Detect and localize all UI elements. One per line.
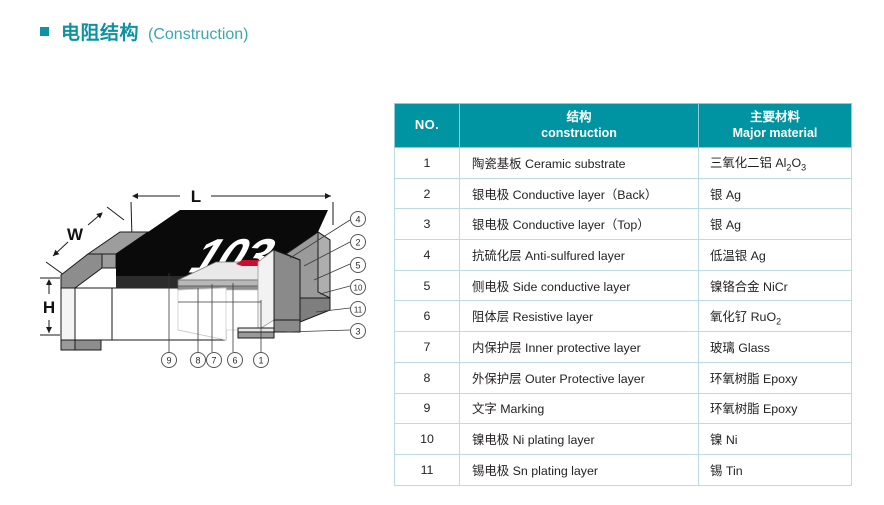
column-header-material-en: Major material (699, 126, 851, 142)
table-header-row: NO. 结构 construction 主要材料 Major material (395, 104, 852, 148)
table-row: 2银电极 Conductive layer（Back）银 Ag (395, 178, 852, 209)
cell-no: 11 (395, 454, 460, 485)
material-subscript: 3 (801, 163, 806, 173)
column-header-no-label: NO. (415, 117, 439, 132)
cell-no: 10 (395, 424, 460, 455)
column-header-material-cn: 主要材料 (699, 110, 851, 126)
cell-material: 银 Ag (699, 209, 852, 240)
svg-text:5: 5 (355, 261, 360, 271)
column-header-material: 主要材料 Major material (699, 104, 852, 148)
cell-material: 玻璃 Glass (699, 332, 852, 363)
svg-text:2: 2 (355, 238, 360, 248)
table-row: 6阻体层 Resistive layer氧化钌 RuO2 (395, 301, 852, 332)
callout-9: 9 (162, 353, 177, 368)
callout-11: 11 (351, 302, 366, 317)
cell-material: 三氧化二铝 Al2O3 (699, 148, 852, 179)
chip-body: 103 (61, 210, 330, 350)
cell-material: 银 Ag (699, 178, 852, 209)
cell-material: 环氧树脂 Epoxy (699, 393, 852, 424)
cell-no: 2 (395, 178, 460, 209)
cell-no: 6 (395, 301, 460, 332)
table-row: 11锡电极 Sn plating layer锡 Tin (395, 454, 852, 485)
cell-material: 锡 Tin (699, 454, 852, 485)
cell-no: 3 (395, 209, 460, 240)
svg-text:H: H (43, 298, 55, 317)
page-title-en: (Construction) (148, 26, 248, 44)
table-row: 7内保护层 Inner protective layer玻璃 Glass (395, 332, 852, 363)
cell-construction: 锡电极 Sn plating layer (460, 454, 699, 485)
svg-text:1: 1 (258, 356, 263, 366)
table-row: 1陶瓷基板 Ceramic substrate三氧化二铝 Al2O3 (395, 148, 852, 179)
cell-construction: 内保护层 Inner protective layer (460, 332, 699, 363)
material-subscript: 2 (776, 316, 781, 326)
svg-text:8: 8 (195, 356, 200, 366)
column-header-no: NO. (395, 104, 460, 148)
table-header: NO. 结构 construction 主要材料 Major material (395, 104, 852, 148)
table-row: 9文字 Marking环氧树脂 Epoxy (395, 393, 852, 424)
svg-text:6: 6 (232, 356, 237, 366)
callout-7: 7 (207, 353, 222, 368)
table-body: 1陶瓷基板 Ceramic substrate三氧化二铝 Al2O32银电极 C… (395, 148, 852, 486)
table-row: 8外保护层 Outer Protective layer环氧树脂 Epoxy (395, 362, 852, 393)
callout-1: 1 (254, 353, 269, 368)
svg-text:W: W (67, 225, 84, 244)
cell-no: 1 (395, 148, 460, 179)
cell-construction: 抗硫化层 Anti-sulfured layer (460, 240, 699, 271)
callout-3: 3 (351, 324, 366, 339)
cell-material: 氧化钌 RuO2 (699, 301, 852, 332)
callout-8: 8 (191, 353, 206, 368)
cell-construction: 银电极 Conductive layer（Back） (460, 178, 699, 209)
callout-4: 4 (351, 212, 366, 227)
table-row: 4抗硫化层 Anti-sulfured layer低温银 Ag (395, 240, 852, 271)
cell-construction: 银电极 Conductive layer（Top） (460, 209, 699, 240)
column-header-construction-cn: 结构 (460, 110, 698, 126)
cell-no: 9 (395, 393, 460, 424)
cell-material: 环氧树脂 Epoxy (699, 362, 852, 393)
cell-no: 5 (395, 270, 460, 301)
cell-construction: 文字 Marking (460, 393, 699, 424)
callout-10: 10 (351, 280, 366, 295)
svg-text:9: 9 (166, 356, 171, 366)
cell-no: 7 (395, 332, 460, 363)
chip-resistor-diagram: L W H (28, 180, 388, 385)
construction-table: NO. 结构 construction 主要材料 Major material … (394, 103, 852, 486)
cell-construction: 阻体层 Resistive layer (460, 301, 699, 332)
svg-text:7: 7 (211, 356, 216, 366)
cell-construction: 陶瓷基板 Ceramic substrate (460, 148, 699, 179)
cell-material: 镍铬合金 NiCr (699, 270, 852, 301)
cell-material: 镍 Ni (699, 424, 852, 455)
svg-text:3: 3 (355, 327, 360, 337)
callout-6: 6 (228, 353, 243, 368)
cell-construction: 镍电极 Ni plating layer (460, 424, 699, 455)
column-header-construction-en: construction (460, 126, 698, 142)
cell-no: 8 (395, 362, 460, 393)
column-header-construction: 结构 construction (460, 104, 699, 148)
svg-text:11: 11 (354, 306, 363, 315)
svg-text:10: 10 (354, 284, 363, 293)
cell-construction: 外保护层 Outer Protective layer (460, 362, 699, 393)
dimension-height: H (40, 278, 60, 335)
material-subscript: 2 (786, 163, 791, 173)
table-row: 10镍电极 Ni plating layer镍 Ni (395, 424, 852, 455)
heading-bullet-icon (40, 27, 49, 36)
page-title-cn: 电阻结构 (61, 18, 139, 45)
svg-text:4: 4 (355, 215, 360, 225)
table-row: 3银电极 Conductive layer（Top）银 Ag (395, 209, 852, 240)
cell-no: 4 (395, 240, 460, 271)
cell-material: 低温银 Ag (699, 240, 852, 271)
table-row: 5侧电极 Side conductive layer镍铬合金 NiCr (395, 270, 852, 301)
callout-2: 2 (351, 235, 366, 250)
cell-construction: 侧电极 Side conductive layer (460, 270, 699, 301)
callout-5: 5 (351, 258, 366, 273)
page-heading: 电阻结构 (Construction) (40, 18, 249, 45)
svg-text:L: L (191, 187, 201, 206)
